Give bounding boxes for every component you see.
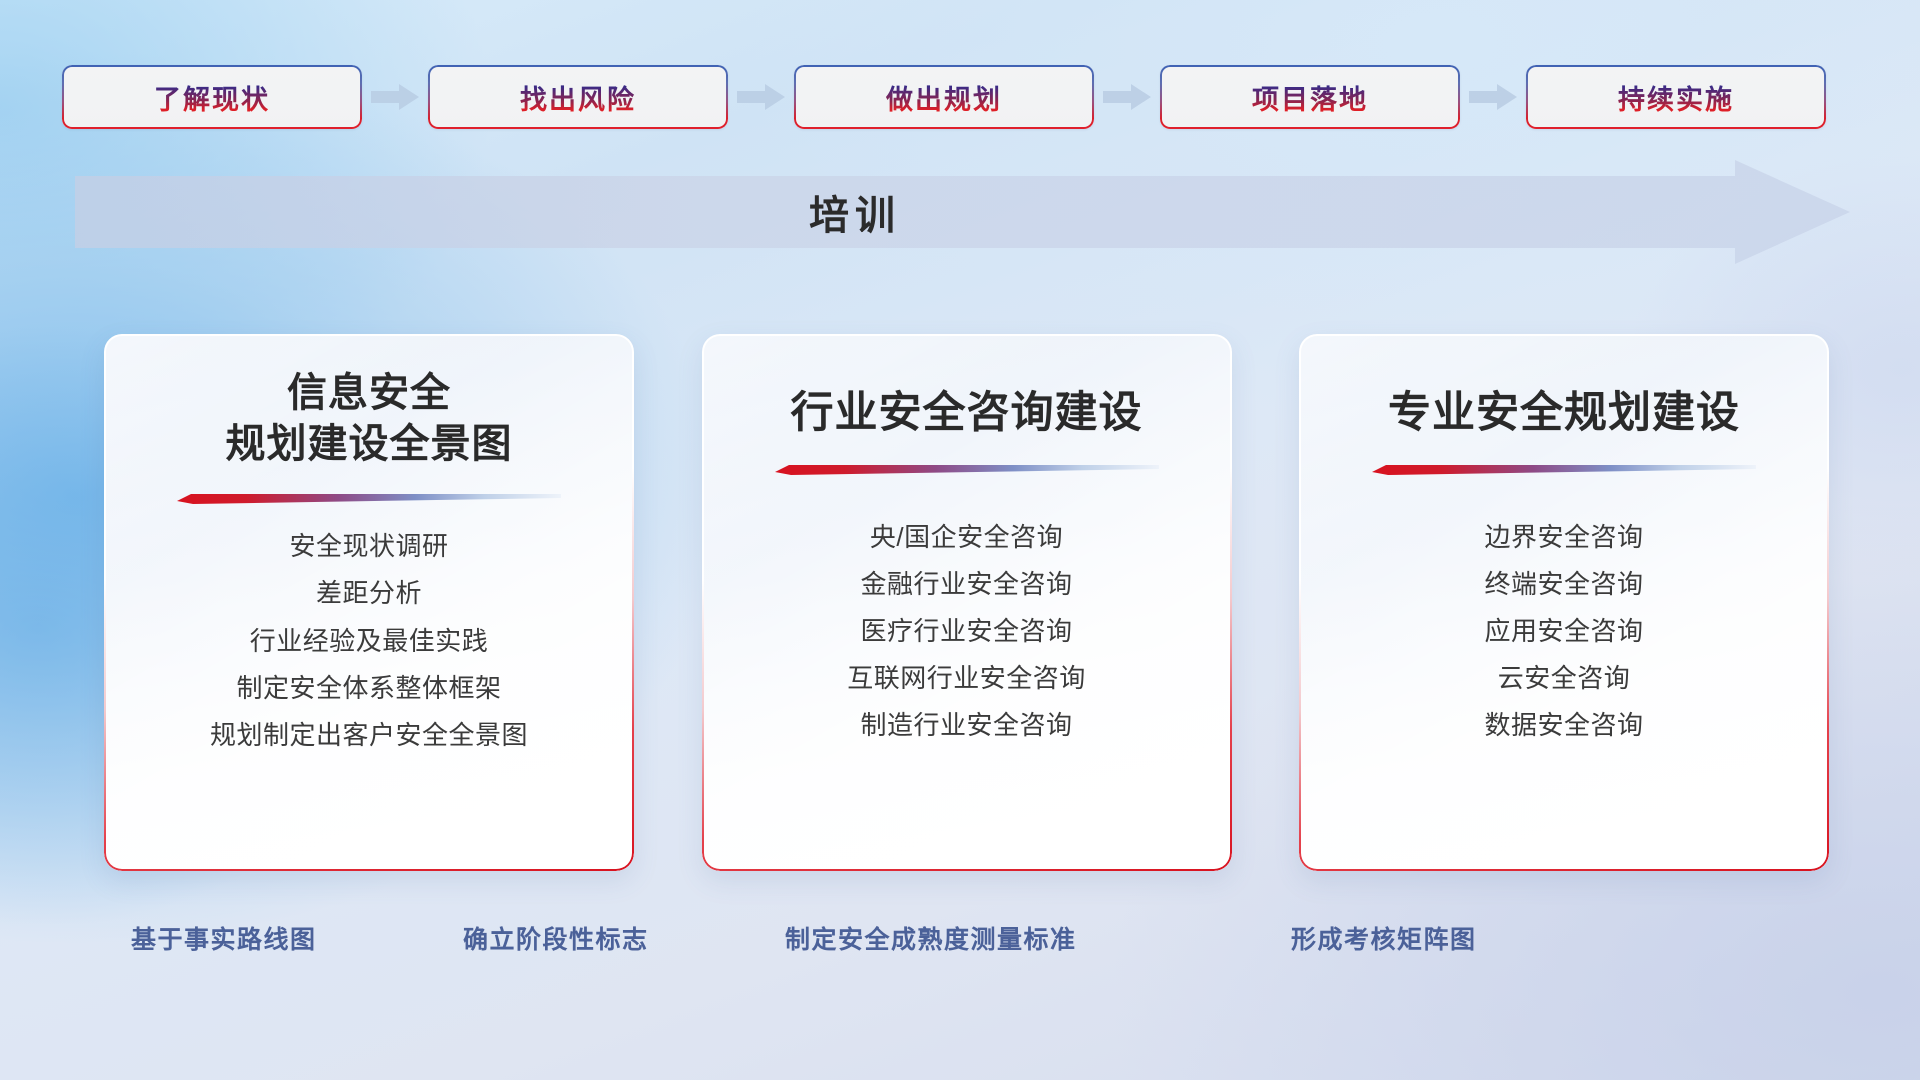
step-label: 了解现状 — [154, 78, 270, 117]
step-label: 做出规划 — [886, 78, 1002, 117]
list-item: 制定安全体系整体框架 — [236, 667, 501, 709]
list-item: 边界安全咨询 — [1484, 516, 1643, 558]
card-title: 信息安全 规划建设全景图 — [226, 368, 513, 470]
step-box-5[interactable]: 持续实施 — [1526, 65, 1826, 129]
card-title-line: 行业安全咨询建设 — [791, 386, 1143, 441]
list-item: 行业经验及最佳实践 — [250, 620, 489, 662]
banner-label: 培训 — [75, 160, 1635, 264]
step-box-1[interactable]: 了解现状 — [62, 65, 362, 129]
card-item-list: 边界安全咨询 终端安全咨询 应用安全咨询 云安全咨询 数据安全咨询 — [1325, 516, 1803, 747]
gradient-divider-icon — [177, 492, 561, 505]
step-label: 持续实施 — [1618, 78, 1734, 117]
list-item: 制造行业安全咨询 — [860, 704, 1072, 746]
right-arrow-icon — [1467, 82, 1519, 112]
step-box-4[interactable]: 项目落地 — [1160, 65, 1460, 129]
card-title-line: 专业安全规划建设 — [1388, 386, 1740, 441]
step-label: 项目落地 — [1252, 78, 1368, 117]
gradient-divider-icon — [775, 463, 1159, 476]
list-item: 数据安全咨询 — [1484, 704, 1643, 746]
footer-label: 确立阶段性标志 — [463, 920, 649, 956]
right-arrow-icon — [1101, 82, 1153, 112]
card-industry-security-consulting[interactable]: 行业安全咨询建设 — [702, 334, 1232, 871]
list-item: 云安全咨询 — [1498, 657, 1631, 699]
list-item: 差距分析 — [316, 572, 422, 614]
card-title-line: 信息安全 — [226, 368, 513, 419]
training-banner: 培训 — [75, 160, 1850, 264]
footer-label: 基于事实路线图 — [131, 920, 317, 956]
card-item-list: 央/国企安全咨询 金融行业安全咨询 医疗行业安全咨询 互联网行业安全咨询 制造行… — [728, 516, 1206, 747]
list-item: 央/国企安全咨询 — [870, 516, 1063, 558]
right-arrow-icon — [369, 82, 421, 112]
process-steps: 了解现状 找出风险 做出规划 项目落地 持续实施 — [62, 62, 1858, 132]
card-information-security-blueprint[interactable]: 信息安全 规划建设全景图 — [104, 334, 634, 871]
list-item: 应用安全咨询 — [1484, 610, 1643, 652]
list-item: 规划制定出客户安全全景图 — [210, 714, 528, 756]
list-item: 终端安全咨询 — [1484, 563, 1643, 605]
footer-label-row: 基于事实路线图 确立阶段性标志 制定安全成熟度测量标准 形成考核矩阵图 — [0, 920, 1920, 962]
card-title: 行业安全咨询建设 — [791, 368, 1143, 441]
step-label: 找出风险 — [520, 78, 636, 117]
card-professional-security-planning[interactable]: 专业安全规划建设 — [1299, 334, 1829, 871]
card-item-list: 安全现状调研 差距分析 行业经验及最佳实践 制定安全体系整体框架 规划制定出客户… — [130, 525, 608, 756]
footer-label: 制定安全成熟度测量标准 — [785, 920, 1077, 956]
footer-label: 形成考核矩阵图 — [1291, 920, 1477, 956]
list-item: 安全现状调研 — [289, 525, 448, 567]
card-title: 专业安全规划建设 — [1388, 368, 1740, 441]
gradient-divider-icon — [1372, 463, 1756, 476]
right-arrow-icon — [735, 82, 787, 112]
list-item: 互联网行业安全咨询 — [847, 657, 1086, 699]
step-box-3[interactable]: 做出规划 — [794, 65, 1094, 129]
list-item: 金融行业安全咨询 — [860, 563, 1072, 605]
list-item: 医疗行业安全咨询 — [860, 610, 1072, 652]
step-box-2[interactable]: 找出风险 — [428, 65, 728, 129]
slide-canvas: 了解现状 找出风险 做出规划 项目落地 持续实施 — [0, 0, 1920, 1080]
card-title-line: 规划建设全景图 — [226, 419, 513, 470]
card-row: 信息安全 规划建设全景图 — [104, 334, 1829, 871]
